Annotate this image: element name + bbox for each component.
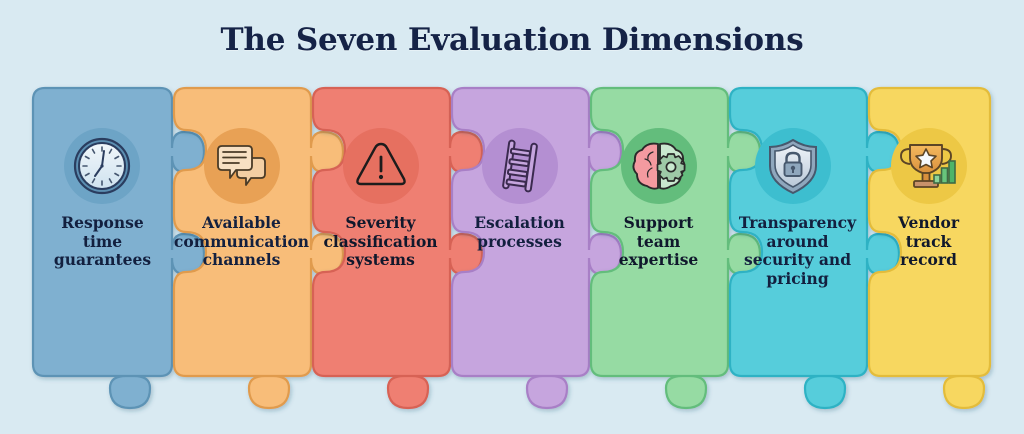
clock-icon (75, 139, 129, 193)
piece-label-response-time: Responsetimeguarantees (33, 214, 172, 270)
piece-label-communication: Availablecommunicationchannels (172, 214, 311, 270)
page-title: The Seven Evaluation Dimensions (0, 22, 1024, 58)
piece-label-vendor-record: Vendortrackrecord (867, 214, 990, 270)
piece-label-severity: Severityclassificationsystems (311, 214, 450, 270)
piece-label-transparency: Transparencyaroundsecurity andpricing (728, 214, 867, 288)
piece-label-escalation: Escalationprocesses (450, 214, 589, 251)
piece-label-support-team: Supportteamexpertise (589, 214, 728, 270)
